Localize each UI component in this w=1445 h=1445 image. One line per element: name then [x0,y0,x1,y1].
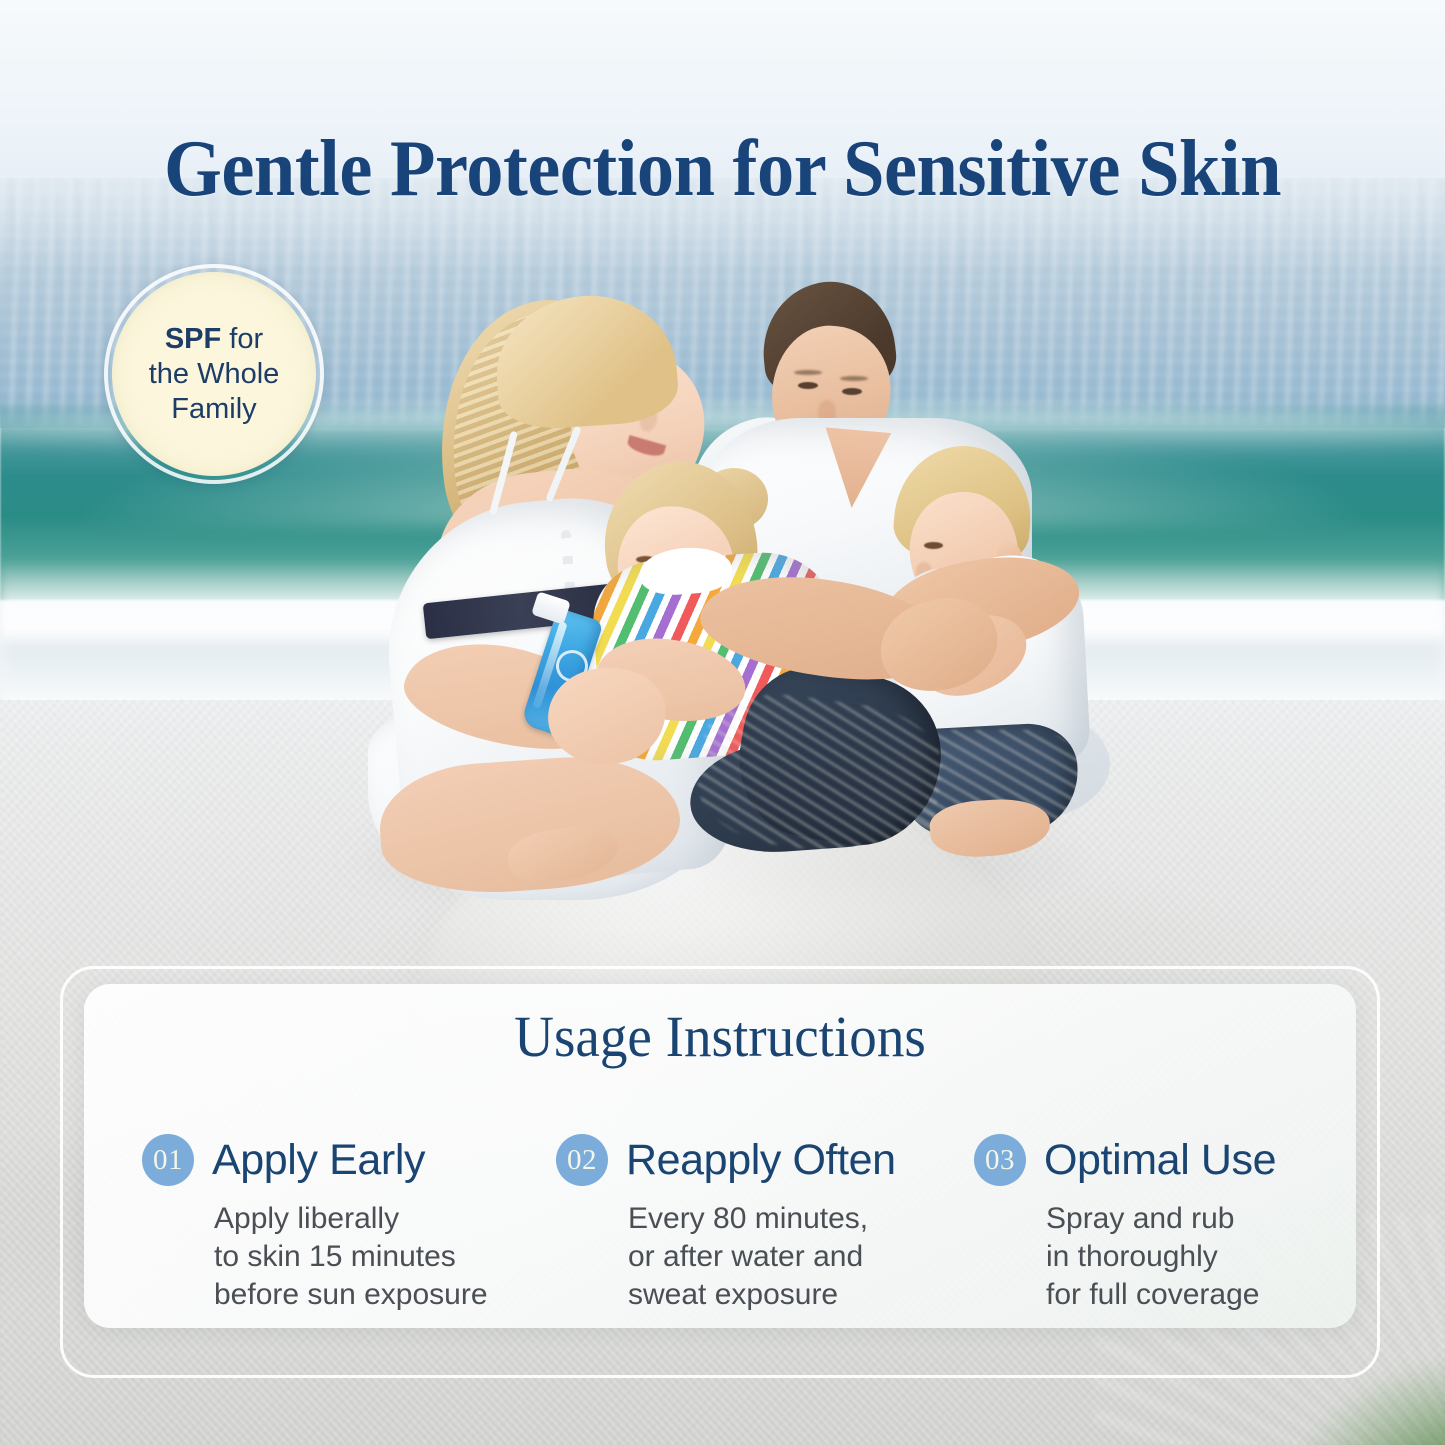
poster-root: Gentle Protection for Sensitive Skin SPF… [0,0,1445,1445]
spf-badge-bold-label: SPF [165,323,221,355]
father-eye-right [842,388,862,395]
usage-instructions-heading: Usage Instructions [116,1004,1324,1070]
usage-step-1-number-badge: 01 [142,1134,194,1186]
usage-step-1-body: Apply liberally to skin 15 minutes befor… [214,1200,556,1314]
usage-step-3-number-badge: 03 [974,1134,1026,1186]
spf-badge-line2: the Whole [149,358,280,390]
usage-step-3: 03 Optimal Use Spray and rub in thorough… [974,1132,1302,1314]
spf-badge-line3: Family [171,393,256,425]
usage-step-1-head: 01 Apply Early [142,1132,556,1188]
spf-badge: SPF for the Whole Family [104,264,324,484]
spf-badge-inner: SPF for the Whole Family [112,272,316,476]
usage-instructions-panel: Usage Instructions 01 Apply Early Apply … [84,984,1356,1328]
usage-step-3-body: Spray and rub in thoroughly for full cov… [1046,1200,1302,1314]
usage-step-3-title: Optimal Use [1044,1136,1276,1184]
father-eyebrow-right [840,376,868,381]
usage-step-2-body: Every 80 minutes, or after water and swe… [628,1200,974,1314]
usage-step-3-head: 03 Optimal Use [974,1132,1302,1188]
usage-step-2-number-badge: 02 [556,1134,608,1186]
boy-eye [924,542,943,549]
usage-step-2-title: Reapply Often [626,1136,896,1184]
spf-badge-text: SPF for the Whole Family [137,322,292,427]
usage-step-2: 02 Reapply Often Every 80 minutes, or af… [556,1132,974,1314]
father-eye-left [798,382,818,389]
usage-steps-list: 01 Apply Early Apply liberally to skin 1… [142,1132,1302,1314]
usage-step-2-head: 02 Reapply Often [556,1132,974,1188]
father-eyebrow-left [794,370,822,375]
page-title: Gentle Protection for Sensitive Skin [51,126,1395,212]
spf-badge-line1-rest: for [221,323,263,355]
usage-step-1: 01 Apply Early Apply liberally to skin 1… [142,1132,556,1314]
usage-step-1-title: Apply Early [212,1136,425,1184]
